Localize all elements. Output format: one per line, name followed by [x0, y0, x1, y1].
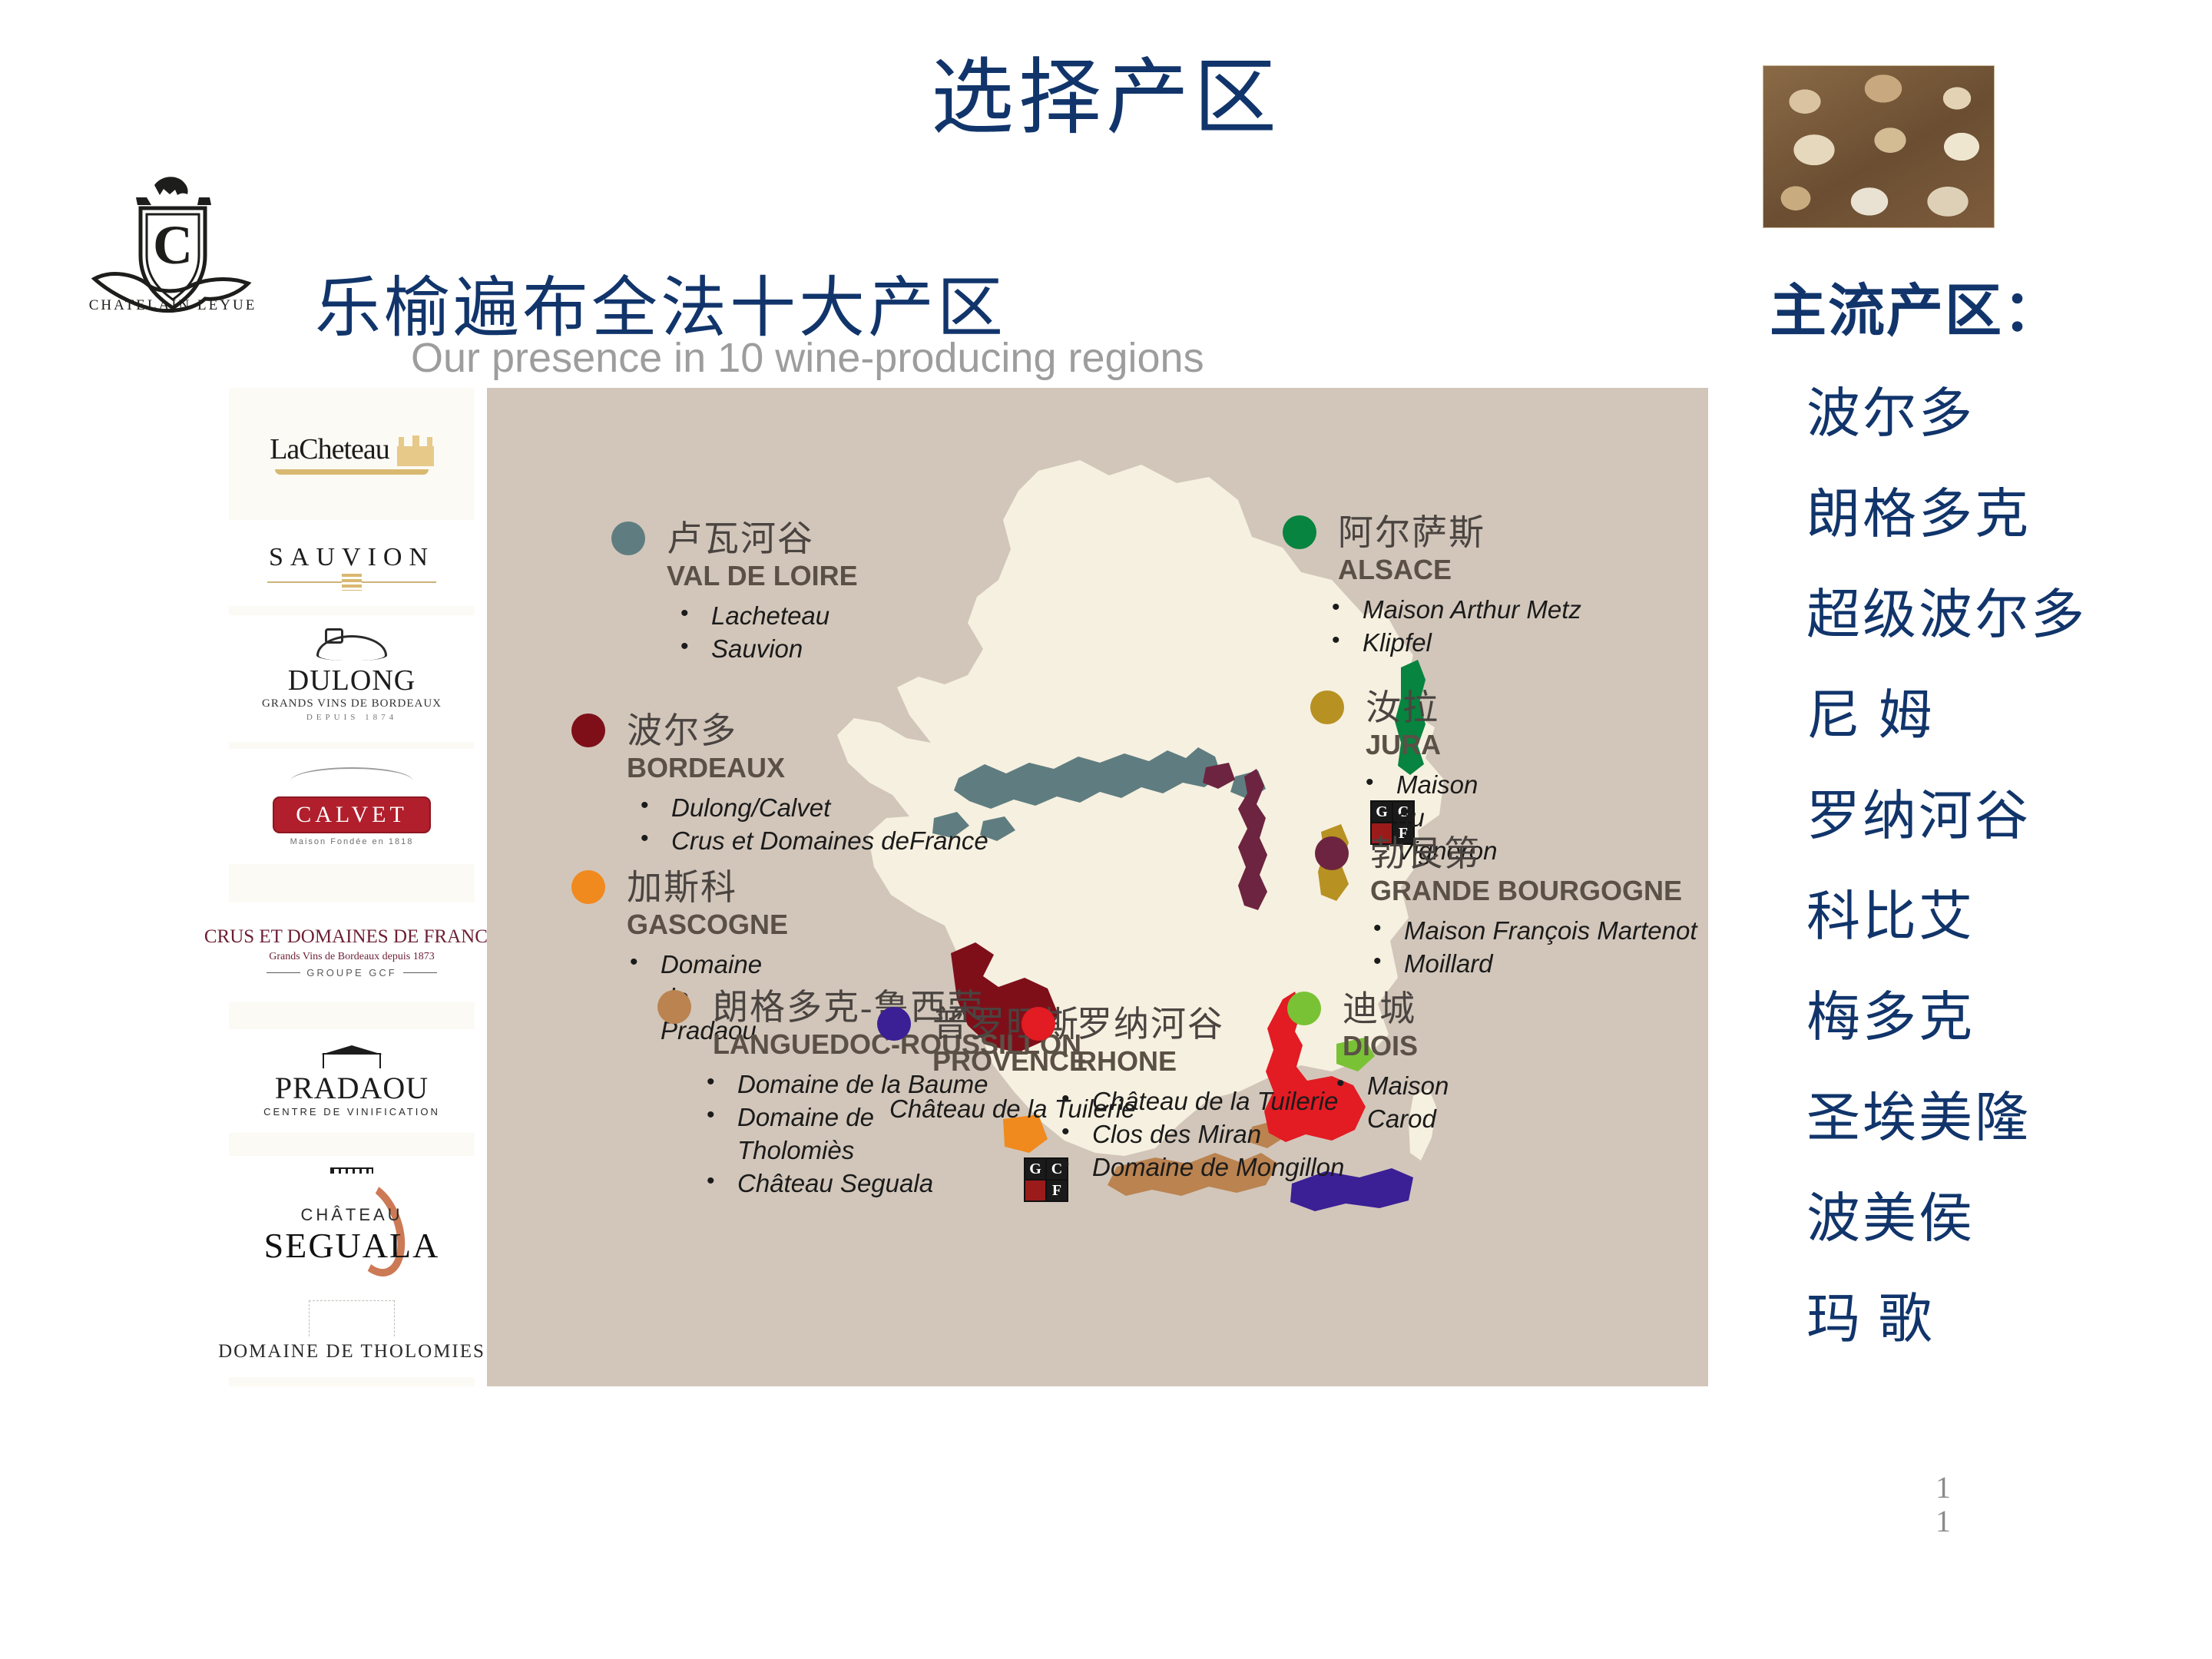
- mainstream-region-item: 科比艾: [1806, 873, 2189, 951]
- logo-underline: [275, 469, 429, 475]
- mainstream-region-item: 尼 姆: [1806, 672, 2189, 750]
- logo-seguala-text: SEGUALA: [264, 1225, 440, 1266]
- logo-cdf-text: CRUS ET DOMAINES DE FRANCE: [204, 926, 499, 948]
- logo-lacheteau-text: LaCheteau: [270, 432, 389, 466]
- legend-cn-val-de-loire: 卢瓦河谷: [667, 511, 814, 561]
- logo-divider: [267, 581, 436, 583]
- legend-brand: Château Seguala: [737, 1167, 988, 1200]
- logo-calvet-founded: Maison Fondée en 1818: [290, 837, 414, 846]
- legend-brand: Maison François Martenot: [1404, 915, 1697, 948]
- gcf-letter-f: F: [1047, 1181, 1067, 1200]
- legend-brand: Maison Arthur Metz: [1363, 594, 1581, 627]
- legend-brands-bordeaux: Dulong/Calvet Crus et Domaines deFrance: [645, 792, 988, 858]
- france-map-panel: G C F G C F 卢瓦河谷 VAL DE LOIRE Lacheteau …: [487, 388, 1708, 1386]
- logo-dulong-subtitle: GRANDS VINS DE BORDEAUX: [262, 697, 442, 710]
- svg-text:C: C: [153, 214, 193, 276]
- bird-icon: [290, 767, 413, 795]
- mainstream-region-item: 波美侯: [1806, 1175, 2189, 1253]
- legend-brand: Crus et Domaines deFrance: [671, 825, 988, 858]
- legend-fr-rhone: RHONE: [1077, 1045, 1177, 1078]
- griffin-crest-icon: [316, 635, 387, 661]
- gcf-grapes-icon: [1025, 1181, 1045, 1200]
- mainstream-region-item: 罗纳河谷: [1806, 773, 2189, 850]
- legend-brands-val-de-loire: Lacheteau Sauvion: [685, 600, 829, 666]
- legend-cn-alsace: 阿尔萨斯: [1338, 505, 1485, 555]
- legend-dot-languedoc-roussillon: [657, 990, 691, 1024]
- mainstream-region-item: 波尔多: [1806, 370, 2189, 448]
- legend-brands-languedoc-roussillon: Domaine de la Baume Domaine de Tholomiès…: [711, 1068, 988, 1200]
- legend-brands-diois: Maison Carod: [1341, 1070, 1449, 1136]
- legend-dot-provence: [877, 1007, 911, 1041]
- rule-left: [267, 972, 300, 973]
- legend-fr-bordeaux: BORDEAUX: [627, 752, 785, 784]
- legend-brand: Klipfel: [1363, 627, 1581, 660]
- legend-dot-bordeaux: [571, 714, 605, 747]
- legend-brands-grande-bourgogne: Maison François Martenot Moillard: [1378, 915, 1697, 981]
- legend-brands-alsace: Maison Arthur Metz Klipfel: [1336, 594, 1581, 660]
- vineyard-pebbles-photo: [1763, 65, 1995, 228]
- legend-cn-grande-bourgogne: 勃艮第: [1370, 826, 1481, 876]
- subtitle-english: Our presence in 10 wine-producing region…: [411, 334, 1204, 382]
- legend-fr-gascogne: GASCOGNE: [627, 909, 788, 941]
- mainstream-region-item: 玛 歌: [1806, 1276, 2189, 1353]
- legend-dot-rhone: [1022, 1007, 1055, 1041]
- logo-calvet: CALVET Maison Fondée en 1818: [229, 749, 475, 864]
- legend-brands-rhone: Château de la Tuilerie Clos des Miran Do…: [1066, 1085, 1344, 1184]
- logo-dulong-text: DULONG: [288, 664, 416, 697]
- mainstream-region-item: 圣埃美隆: [1806, 1075, 2189, 1152]
- logo-chateau-seguala-block: CHÂTEAU SEGUALA: [229, 1174, 475, 1296]
- mainstream-region-item: 朗格多克: [1806, 471, 2189, 548]
- logo-lacheteau: LaCheteau: [229, 396, 475, 511]
- gcf-letter-g: G: [1025, 1159, 1045, 1179]
- legend-dot-diois: [1287, 992, 1321, 1025]
- mainstream-regions-panel: 主流产区： 波尔多 朗格多克 超级波尔多 尼 姆 罗纳河谷 科比艾 梅多克 圣埃…: [1759, 265, 2189, 1353]
- logo-pradaou-text: PRADAOU: [275, 1070, 429, 1106]
- logo-cdf-group: GROUPE GCF: [267, 967, 436, 979]
- mainstream-region-item: 超级波尔多: [1806, 571, 2189, 649]
- legend-brand: Lacheteau: [711, 600, 829, 633]
- legend-cn-provence: 普罗旺斯: [932, 996, 1080, 1047]
- mainstream-region-item: 梅多克: [1806, 974, 2189, 1051]
- legend-brand: Château de la Tuilerie: [1092, 1085, 1344, 1118]
- logo-sauvion-text: SAUVION: [269, 543, 435, 572]
- winery-building-icon: [323, 1045, 381, 1068]
- legend-dot-alsace: [1283, 515, 1316, 549]
- legend-dot-val-de-loire: [611, 522, 645, 555]
- castle-icon: [397, 435, 434, 466]
- legend-cn-gascogne: 加斯科: [627, 859, 737, 910]
- logo-cdf-group-text: GROUPE GCF: [306, 967, 396, 979]
- legend-fr-diois: DIOIS: [1343, 1030, 1418, 1062]
- logo-dulong-founded: DEPUIS 1874: [306, 713, 397, 722]
- legend-dot-grande-bourgogne: [1315, 836, 1349, 870]
- logo-pradaou-subtitle: CENTRE DE VINIFICATION: [263, 1106, 440, 1118]
- legend-brand: Domaine de Mongillon: [1092, 1151, 1344, 1184]
- logo-sauvion: SAUVION: [229, 520, 475, 606]
- company-crest-logo: C CHATELAIN LEYUE: [81, 150, 265, 334]
- legend-brand: Sauvion: [711, 633, 829, 666]
- logo-crus-et-domaines-de-france: CRUS ET DOMAINES DE FRANCE Grands Vins d…: [229, 902, 475, 1002]
- legend-cn-rhone: 罗纳河谷: [1077, 996, 1224, 1047]
- logo-calvet-text: CALVET: [273, 796, 431, 833]
- page-number-line2: 1: [1936, 1505, 1951, 1538]
- logo-pradaou: PRADAOU CENTRE DE VINIFICATION: [229, 1029, 475, 1133]
- legend-brand: Dulong/Calvet: [671, 792, 988, 825]
- logo-dulong: DULONG GRANDS VINS DE BORDEAUX DEPUIS 18…: [229, 615, 475, 742]
- legend-cn-jura: 汝拉: [1366, 680, 1439, 730]
- legend-cn-diois: 迪城: [1343, 981, 1416, 1031]
- legend-brand: Maison Carod: [1367, 1070, 1449, 1136]
- legend-brand: Clos des Miran: [1092, 1118, 1344, 1151]
- legend-fr-grande-bourgogne: GRANDE BOURGOGNE: [1370, 875, 1682, 907]
- legend-fr-jura: JURA: [1366, 729, 1441, 761]
- legend-brand: Moillard: [1404, 948, 1697, 981]
- mainstream-regions-heading: 主流产区：: [1770, 265, 2189, 347]
- rule-right: [403, 972, 437, 973]
- logo-seguala-chateau: CHÂTEAU: [300, 1205, 402, 1225]
- logo-domaine-de-tholomies: DOMAINE DE THOLOMIES: [229, 1285, 475, 1377]
- legend-dot-jura: [1310, 690, 1344, 724]
- page-number-line1: 1: [1936, 1471, 1951, 1505]
- legend-cn-bordeaux: 波尔多: [627, 703, 737, 753]
- legend-fr-provence: PROVENCE: [932, 1045, 1088, 1078]
- farmhouse-sketch-icon: [309, 1300, 395, 1336]
- logo-tholomies-text: DOMAINE DE THOLOMIES: [218, 1341, 485, 1363]
- page-number: 1 1: [1936, 1471, 1951, 1538]
- logo-cdf-subtitle: Grands Vins de Bordeaux depuis 1873: [269, 951, 434, 963]
- crest-ribbon-text: CHATELAIN LEYUE: [89, 297, 257, 313]
- legend-dot-gascogne: [571, 870, 605, 904]
- legend-fr-alsace: ALSACE: [1338, 554, 1452, 586]
- legend-fr-val-de-loire: VAL DE LOIRE: [667, 560, 858, 592]
